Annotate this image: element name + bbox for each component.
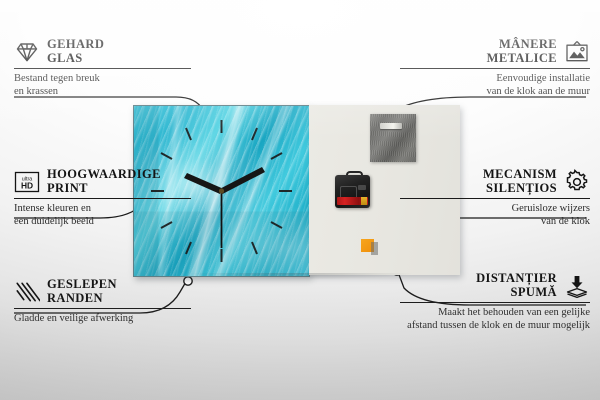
feature-metal-hooks: MÂNERE METALICE Eenvoudige installatie v… <box>393 38 590 98</box>
hands-center-cap <box>219 188 224 193</box>
tick-7 <box>186 242 191 254</box>
title-underline <box>14 198 191 199</box>
clock-mechanism <box>335 171 370 208</box>
feature-title: DISTANȚIER SPUMĂ <box>476 272 557 299</box>
feature-foam-spacer: DISTANȚIER SPUMĂ Maakt het behouden van … <box>393 272 590 332</box>
title-underline <box>400 198 590 199</box>
gear-icon <box>564 169 590 195</box>
feature-description: Gladde en veilige afwerking <box>14 312 199 325</box>
tick-2 <box>271 153 282 159</box>
title-underline <box>14 68 191 69</box>
title-underline <box>400 302 590 303</box>
tick-10 <box>161 153 172 159</box>
second-hand <box>221 190 223 248</box>
hanger-slot <box>380 123 402 129</box>
feature-description: Eenvoudige installatie van de klok aan d… <box>393 72 590 98</box>
mechanism-body <box>335 175 370 208</box>
diamond-icon <box>14 39 40 65</box>
feature-description: Intense kleuren en een duidelijk beeld <box>14 202 199 228</box>
title-underline <box>14 308 191 309</box>
tick-5 <box>252 242 257 254</box>
battery-positive-terminal <box>361 197 367 205</box>
feature-description: Geruisloze wijzers van de klok <box>393 202 590 228</box>
title-underline <box>400 68 590 69</box>
feature-description: Bestand tegen breuk en krassen <box>14 72 199 98</box>
feature-ground-edges: GESLEPEN RANDEN Gladde en veilige afwerk… <box>14 278 199 325</box>
metal-hanger-plate <box>370 114 416 162</box>
feature-title: GESLEPEN RANDEN <box>47 278 117 305</box>
feature-silent-mechanism: MECANISM SILENȚIOS Geruisloze wijzers va… <box>393 168 590 228</box>
tick-4 <box>271 222 282 228</box>
feature-tempered-glass: GEHARD GLAS Bestand tegen breuk en krass… <box>14 38 199 98</box>
feature-title: MÂNERE METALICE <box>487 38 557 65</box>
feature-title: GEHARD GLAS <box>47 38 104 65</box>
foam-spacer-shadow <box>371 242 378 255</box>
product-infographic: GEHARD GLAS Bestand tegen breuk en krass… <box>0 0 600 400</box>
feature-high-quality-print: ultra HD HOOGWAARDIGE PRINT Intense kleu… <box>14 168 199 228</box>
svg-text:HD: HD <box>21 180 33 190</box>
beveled-edges-icon <box>14 279 40 305</box>
metal-grain <box>370 114 416 162</box>
feature-description: Maakt het behouden van een gelijke afsta… <box>393 306 590 332</box>
ultra-hd-icon: ultra HD <box>14 169 40 195</box>
hanging-picture-icon <box>564 39 590 65</box>
tick-11 <box>186 128 191 140</box>
feature-title: MECANISM SILENȚIOS <box>483 168 557 195</box>
feature-title: HOOGWAARDIGE PRINT <box>47 168 161 195</box>
mechanism-label <box>358 185 366 190</box>
battery <box>337 197 368 205</box>
tick-1 <box>252 128 257 140</box>
minute-hand <box>222 167 266 194</box>
foam-spacer-pad <box>361 239 374 252</box>
foam-spacer-icon <box>564 273 590 299</box>
